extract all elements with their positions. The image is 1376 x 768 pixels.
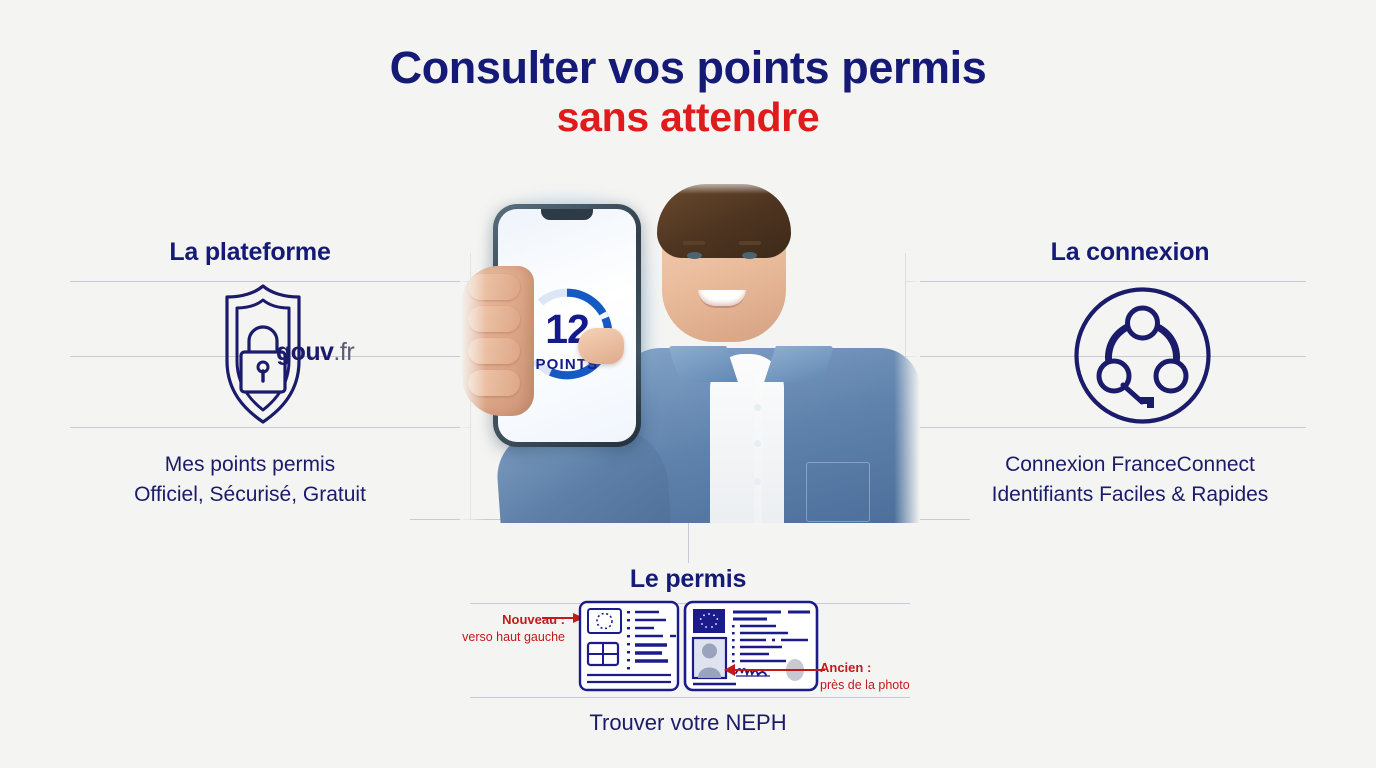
licence-card-verso xyxy=(580,602,678,690)
heading-permis: Le permis xyxy=(488,565,888,594)
shirt-placket xyxy=(754,374,762,523)
grid-line-vertical-center xyxy=(688,519,689,563)
franceconnect-icon xyxy=(1070,283,1215,428)
caption-platform: Mes points permis Officiel, Sécurisé, Gr… xyxy=(50,450,450,511)
person-finger xyxy=(468,306,520,332)
person-finger xyxy=(468,338,520,364)
person-thumb xyxy=(578,328,624,364)
grid-line-right-top xyxy=(906,281,1306,282)
caption-permis: Trouver votre NEPH xyxy=(488,707,888,739)
hero-photo: 12 POINTS xyxy=(460,178,920,523)
shirt-button xyxy=(754,440,761,447)
person-eyebrow xyxy=(683,241,705,245)
caption-connection-line2: Identifiants Faciles & Rapides xyxy=(930,480,1330,510)
shirt-button xyxy=(754,404,761,411)
heading-connection: La connexion xyxy=(940,238,1320,267)
person-eyebrow xyxy=(739,241,761,245)
page-title: Consulter vos points permis sans attendr… xyxy=(0,44,1376,139)
caption-connection-line1: Connexion FranceConnect xyxy=(930,450,1330,480)
arrow-right-icon xyxy=(542,613,584,623)
person-eye xyxy=(742,252,757,259)
licence-card-recto xyxy=(685,602,817,690)
shirt-button xyxy=(754,478,761,485)
title-line-primary: Consulter vos points permis xyxy=(0,44,1376,93)
shirt-pocket xyxy=(806,462,870,522)
grid-line-left-top xyxy=(70,281,470,282)
caption-connection: Connexion FranceConnect Identifiants Fac… xyxy=(930,450,1330,511)
phone-notch xyxy=(541,209,593,220)
shirt-collar-left xyxy=(668,346,738,382)
infographic-canvas: Consulter vos points permis sans attendr… xyxy=(0,0,1376,768)
person-hair xyxy=(657,184,791,258)
person-finger xyxy=(468,370,520,396)
title-line-secondary: sans attendre xyxy=(0,95,1376,139)
driving-licence-figure xyxy=(470,600,910,700)
gouv-logo-bold: gouv xyxy=(276,338,333,366)
caption-platform-line2: Officiel, Sécurisé, Gratuit xyxy=(50,480,450,510)
person-finger xyxy=(468,274,520,300)
heading-platform: La plateforme xyxy=(60,238,440,267)
caption-platform-line1: Mes points permis xyxy=(50,450,450,480)
gouv-fr-logo: gouv.fr xyxy=(276,338,354,367)
gouv-logo-suffix: .fr xyxy=(333,338,354,366)
person-eye xyxy=(687,252,702,259)
